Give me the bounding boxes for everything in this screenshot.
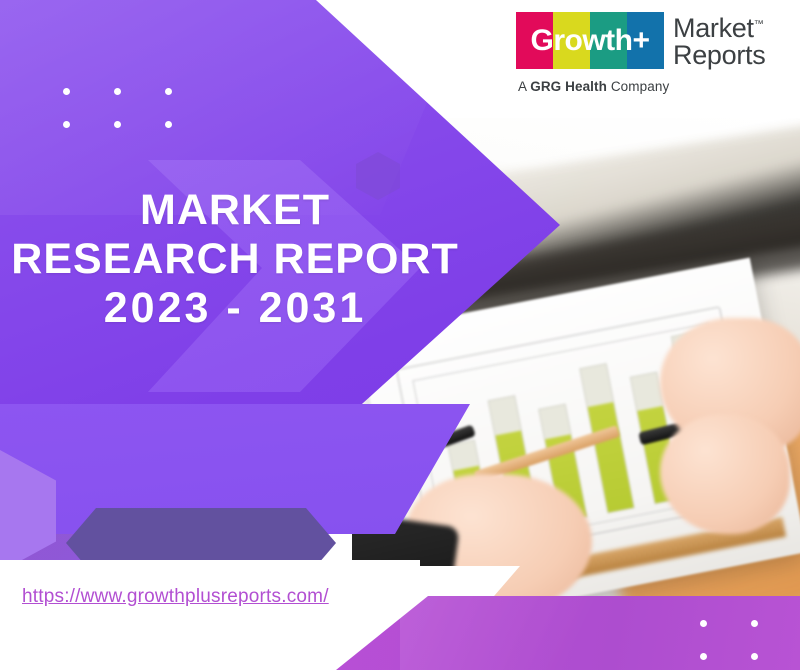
logo-brand-line-2: Reports [673, 42, 765, 69]
tagline-suffix: Company [607, 79, 669, 94]
dot-grid-top-left [63, 88, 172, 128]
brand-logo[interactable]: Growth+ Market™ Reports A GRG Health Com… [516, 12, 792, 100]
dot [63, 121, 70, 128]
dot [165, 88, 172, 95]
title-line-1: MARKET [0, 186, 470, 235]
dot [700, 653, 707, 660]
report-cover: MARKET RESEARCH REPORT 2023 - 2031 https… [0, 0, 800, 670]
logo-row: Growth+ Market™ Reports [516, 12, 792, 72]
magenta-footer-sheen [400, 596, 700, 670]
logo-market-text: Market [673, 13, 754, 43]
dot [751, 653, 758, 660]
dot [114, 121, 121, 128]
logo-tagline: A GRG Health Company [516, 79, 792, 94]
logo-brand-text: Market™ Reports [673, 12, 765, 72]
logo-color-swatches: Growth+ [516, 12, 664, 69]
dot-grid-bottom-right [700, 620, 800, 660]
dot [700, 620, 707, 627]
dot [165, 121, 172, 128]
logo-brand-line-1: Market™ [673, 15, 765, 42]
tagline-prefix: A [518, 79, 530, 94]
title-line-2: RESEARCH REPORT [0, 235, 470, 284]
website-url-link[interactable]: https://www.growthplusreports.com/ [22, 586, 329, 608]
dot [63, 88, 70, 95]
dot [751, 620, 758, 627]
page-title: MARKET RESEARCH REPORT 2023 - 2031 [0, 186, 470, 333]
trademark-icon: ™ [754, 19, 764, 30]
logo-wordmark: Growth+ [516, 12, 664, 69]
dot [114, 88, 121, 95]
title-line-3: 2023 - 2031 [0, 284, 470, 333]
photo-hand-right-lower [660, 414, 790, 534]
tagline-bold: GRG Health [530, 79, 607, 94]
